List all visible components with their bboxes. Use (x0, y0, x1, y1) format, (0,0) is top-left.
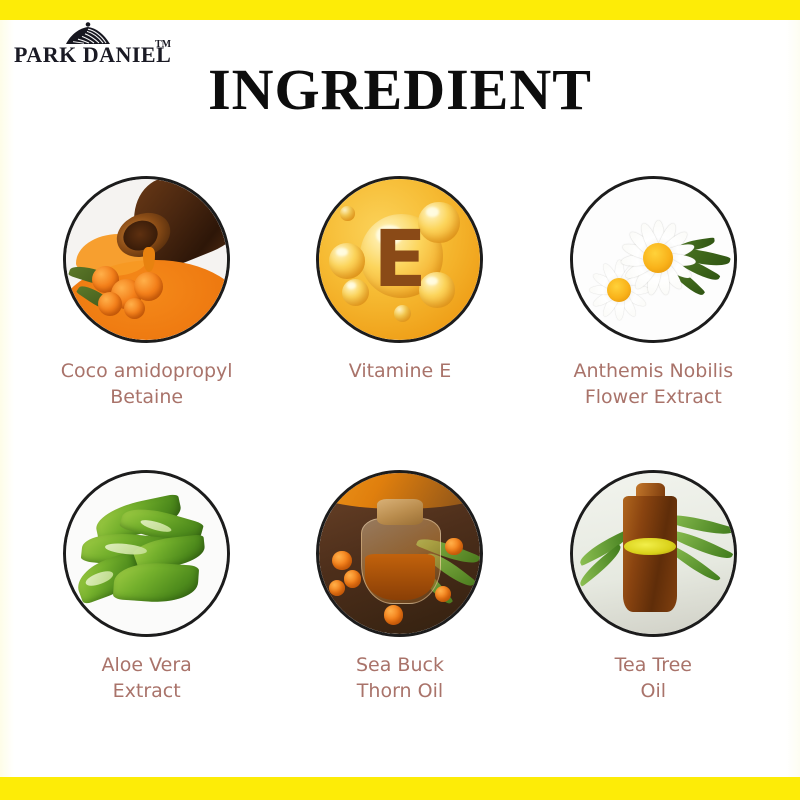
oil-pouring-bottle-berries-icon (66, 179, 227, 340)
ingredient-label: Anthemis Nobilis Flower Extract (574, 359, 734, 410)
left-edge-tint (0, 20, 14, 777)
ingredient-image-circle (63, 470, 230, 637)
vitamin-e-capsule-icon: E (319, 179, 480, 340)
ingredient-image-circle (570, 176, 737, 343)
ingredient-image-circle (63, 176, 230, 343)
top-yellow-bar (0, 0, 800, 20)
daisy-large (615, 214, 702, 301)
chamomile-flower-icon (573, 179, 734, 340)
ingredient-item-aloe-vera-extract: Aloe Vera Extract (20, 470, 273, 704)
ingredient-item-sea-buck-thorn-oil: Sea Buck Thorn Oil (273, 470, 526, 704)
ingredient-item-anthemis-nobilis-flower-extract: Anthemis Nobilis Flower Extract (527, 176, 780, 410)
trademark-symbol: TM (155, 39, 171, 50)
right-edge-tint (786, 20, 800, 777)
ingredient-image-circle (316, 470, 483, 637)
ingredient-grid: Coco amidopropyl Betaine E Vitamine E (20, 176, 780, 705)
ingredient-label: Vitamine E (349, 359, 452, 385)
aloe-vera-leaf-icon (66, 473, 227, 634)
ingredient-infographic: PARK DANIEL TM INGREDIENT (0, 0, 800, 800)
page-title: INGREDIENT (0, 60, 800, 121)
ingredient-label: Aloe Vera Extract (102, 653, 192, 704)
ingredient-label: Sea Buck Thorn Oil (356, 653, 444, 704)
ingredient-item-tea-tree-oil: Tea Tree Oil (527, 470, 780, 704)
ingredient-item-vitamine-e: E Vitamine E (273, 176, 526, 410)
ingredient-label: Tea Tree Oil (615, 653, 692, 704)
ingredient-image-circle (570, 470, 737, 637)
tea-tree-oil-bottle-icon (573, 473, 734, 634)
sea-buckthorn-oil-jar-icon (319, 473, 480, 634)
ingredient-image-circle: E (316, 176, 483, 343)
vitamin-letter: E (319, 179, 480, 340)
ingredient-item-coco-amidopropyl-betaine: Coco amidopropyl Betaine (20, 176, 273, 410)
ingredient-label: Coco amidopropyl Betaine (61, 359, 233, 410)
bottom-yellow-bar (0, 777, 800, 800)
